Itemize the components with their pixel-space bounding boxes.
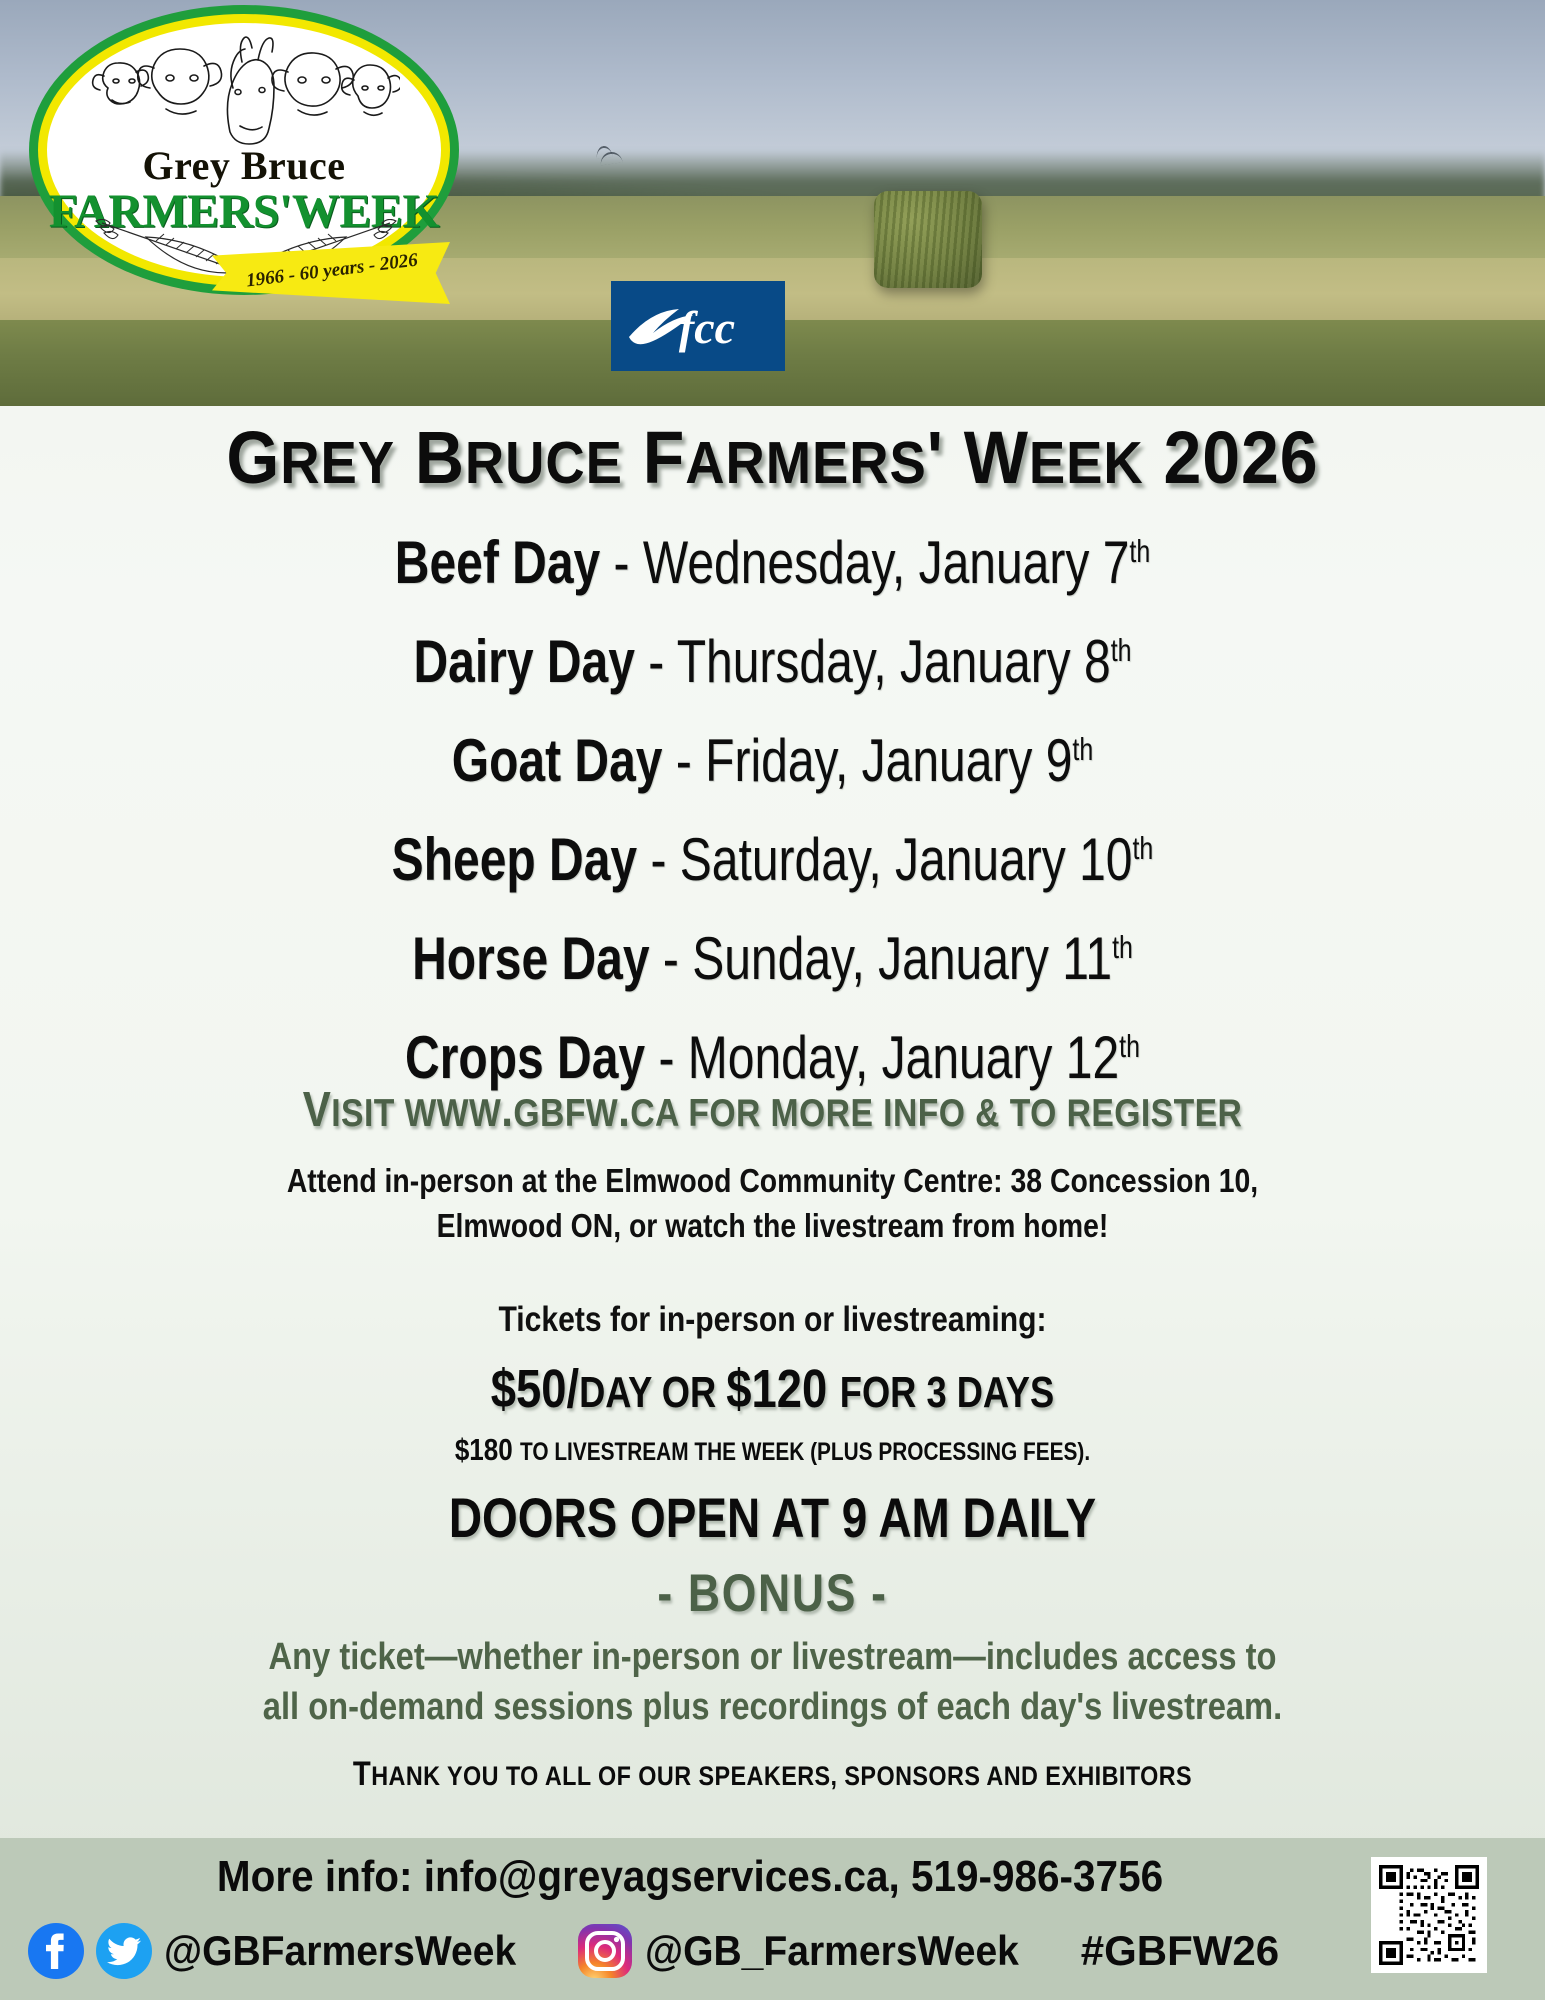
bonus-line-2: all on-demand sessions plus recordings o… (263, 1686, 1282, 1728)
bonus-heading: - BONUS - (124, 1563, 1422, 1624)
price-part: DAY OR (579, 1369, 726, 1417)
visit-part: ISIT WWW (331, 1092, 501, 1135)
day-separator: - (645, 1024, 688, 1091)
gbfw-logo: Grey Bruce FARMERS'WEEK (38, 14, 450, 314)
visit-part: . (618, 1083, 630, 1137)
bonus-line-1: Any ticket—whether in-person or livestre… (269, 1636, 1277, 1678)
doors-open-notice: DOORS OPEN AT 9 AM DAILY (139, 1485, 1406, 1550)
tickets-label: Tickets for in-person or livestreaming: (108, 1300, 1437, 1340)
title-part: EEK (1029, 429, 1144, 496)
day-separator: - (600, 529, 643, 596)
day-ordinal: th (1133, 831, 1154, 866)
day-separator: - (650, 925, 693, 992)
price-part: $50/ (491, 1359, 579, 1419)
title-part: B (395, 416, 465, 499)
title-part: ' W (927, 416, 1029, 499)
visit-part: . (501, 1083, 513, 1137)
ticket-price-main: $50/DAY OR $120 FOR 3 DAYS (124, 1358, 1422, 1420)
day-ordinal: th (1119, 1029, 1140, 1064)
day-separator: - (662, 727, 705, 794)
svg-text:fcc: fcc (679, 302, 735, 353)
schedule-row-beef: Beef Day - Wednesday, January 7th (155, 508, 1391, 607)
price-part: AYS (983, 1369, 1054, 1417)
day-name: Horse Day (412, 925, 649, 992)
visit-part: V (303, 1083, 332, 1137)
facebook-icon[interactable] (28, 1923, 84, 1979)
day-ordinal: th (1112, 930, 1133, 965)
footer-social-row: @GBFarmersWeek @GB_FarmersWeek (0, 1916, 1545, 1986)
schedule-row-dairy: Dairy Day - Thursday, January 8th (155, 607, 1391, 706)
bonus-description: Any ticket—whether in-person or livestre… (160, 1632, 1386, 1732)
address-line-2: Elmwood ON, or watch the livestream from… (437, 1207, 1109, 1244)
instagram-icon[interactable] (577, 1923, 633, 1979)
fcc-wordmark-icon: fcc (611, 281, 785, 371)
schedule-row-goat: Goat Day - Friday, January 9th (155, 706, 1391, 805)
title-part: G (226, 416, 280, 499)
footer-bar: More info: info@greyagservices.ca, 519-9… (0, 1838, 1545, 2000)
day-name: Dairy Day (413, 628, 634, 695)
price-part: $120 (726, 1359, 840, 1419)
day-ordinal: th (1129, 534, 1150, 569)
visit-part: CA FOR MORE INFO & TO REGISTER (630, 1092, 1242, 1135)
day-name: Crops Day (405, 1024, 645, 1091)
facebook-twitter-handle[interactable]: @GBFarmersWeek (164, 1927, 516, 1975)
thanks-part: T (353, 1755, 371, 1793)
visit-part: GBFW (513, 1092, 618, 1135)
day-date: Thursday, January 8 (677, 628, 1111, 695)
instagram-handle[interactable]: @GB_FarmersWeek (645, 1927, 1019, 1975)
day-date: Monday, January 12 (688, 1024, 1119, 1091)
title-part: RUCE (465, 429, 623, 496)
title-part: ARMERS (685, 429, 927, 496)
address-line-1: Attend in-person at the Elmwood Communit… (287, 1162, 1258, 1199)
thanks-part: HANK YOU TO ALL OF OUR SPEAKERS, SPONSOR… (371, 1760, 1192, 1791)
twitter-icon[interactable] (96, 1923, 152, 1979)
day-date: Sunday, January 11 (692, 925, 1112, 992)
day-name: Goat Day (452, 727, 663, 794)
animal-heads-icon (90, 36, 400, 148)
poster-root: Grey Bruce FARMERS'WEEK (0, 0, 1545, 2000)
fcc-logo: fcc (611, 281, 785, 371)
footer-contact-info[interactable]: More info: info@greyagservices.ca, 519-9… (55, 1852, 1325, 1902)
day-separator: - (635, 628, 677, 695)
schedule-row-horse: Horse Day - Sunday, January 11th (155, 904, 1391, 1003)
schedule-row-sheep: Sheep Day - Saturday, January 10th (155, 805, 1391, 904)
day-schedule-list: Beef Day - Wednesday, January 7th Dairy … (0, 508, 1545, 1102)
price-sub-part: TO LIVESTREAM THE WEEK (PLUS PROCESSING … (520, 1439, 1090, 1466)
day-name: Beef Day (395, 529, 600, 596)
price-sub-part: $180 (455, 1432, 520, 1467)
event-hashtag: #GBFW26 (1081, 1927, 1279, 1975)
day-ordinal: th (1111, 633, 1132, 668)
visit-website-line[interactable]: VISIT WWW.GBFW.CA FOR MORE INFO & TO REG… (108, 1082, 1437, 1138)
thank-you-line: THANK YOU TO ALL OF OUR SPEAKERS, SPONSO… (108, 1755, 1437, 1794)
day-date: Friday, January 9 (705, 727, 1072, 794)
hay-bale (874, 191, 982, 288)
hero-photo: Grey Bruce FARMERS'WEEK (0, 0, 1545, 406)
title-part: REY (280, 429, 395, 496)
qr-code-icon[interactable] (1371, 1857, 1487, 1973)
title-part: F (623, 416, 685, 499)
title-part: 2026 (1144, 416, 1319, 499)
price-part: FOR 3 D (840, 1369, 983, 1417)
day-ordinal: th (1072, 732, 1093, 767)
day-date: Saturday, January 10 (680, 826, 1133, 893)
ticket-price-week: $180 TO LIVESTREAM THE WEEK (PLUS PROCES… (124, 1432, 1422, 1468)
day-name: Sheep Day (392, 826, 637, 893)
page-title: GREY BRUCE FARMERS' WEEK 2026 (62, 415, 1483, 500)
venue-address: Attend in-person at the Elmwood Communit… (186, 1158, 1360, 1248)
day-date: Wednesday, January 7 (643, 529, 1130, 596)
day-separator: - (637, 826, 680, 893)
logo-line-grey-bruce: Grey Bruce (38, 142, 450, 189)
